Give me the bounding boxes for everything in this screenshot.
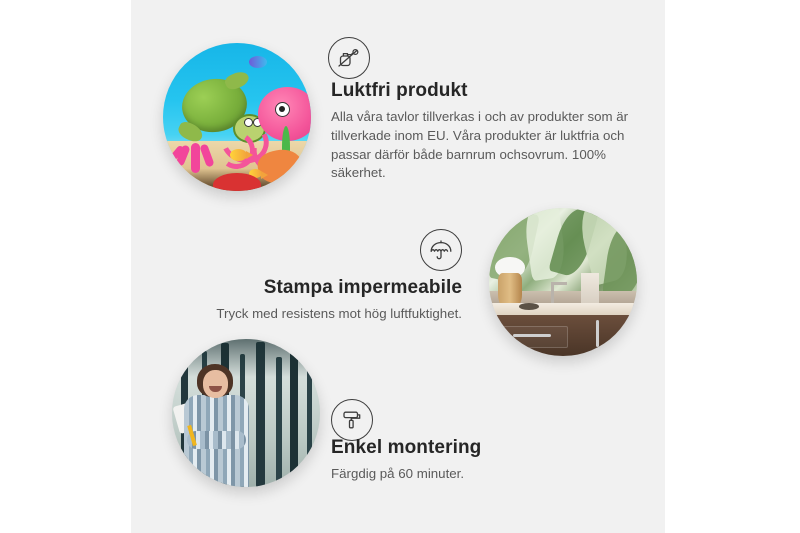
forest-scene-art [172,339,320,487]
soap-dispenser [581,273,599,306]
face [203,370,228,398]
crab-icon [213,173,260,191]
underwater-scene-art [163,43,311,191]
crossed-arms [187,431,246,449]
no-perfume-bottle-icon [328,37,370,79]
vanity-drawer [501,326,568,347]
feature-image-woman-with-paint-roller-forest-photo [172,339,320,487]
feature-description: Färgdig på 60 minuter. [331,465,591,484]
forest-canopy [172,339,320,377]
faucet [551,282,554,303]
feature-text-waterproof-print: Stampa impermeabile Tryck med resistens … [216,277,462,324]
feature-title: Enkel montering [331,437,591,459]
coral [172,123,216,173]
feature-image-bathroom-leaf-wallpaper-photo [489,208,637,356]
feature-title: Luktfri produkt [331,80,631,102]
feature-description: Alla våra tavlor tillverkas i och av pro… [331,108,631,184]
umbrella-icon [420,229,462,271]
paint-roller-icon [331,399,373,441]
feature-title: Stampa impermeabile [216,277,462,299]
feature-description: Tryck med resistens mot hög luftfuktighe… [216,305,462,324]
feature-image-underwater-cartoon-mural-photo [163,43,311,191]
cabinet-handle [596,320,599,347]
feature-text-easy-mounting: Enkel montering Färgdig på 60 minuter. [331,437,591,484]
feature-text-odour-free: Luktfri produkt Alla våra tavlor tillver… [331,80,631,183]
drawer-handle [513,334,551,337]
tree-trunk [307,360,312,487]
bathroom-scene-art [489,208,637,356]
product-feature-infographic: Luktfri produkt Alla våra tavlor tillver… [0,0,800,533]
